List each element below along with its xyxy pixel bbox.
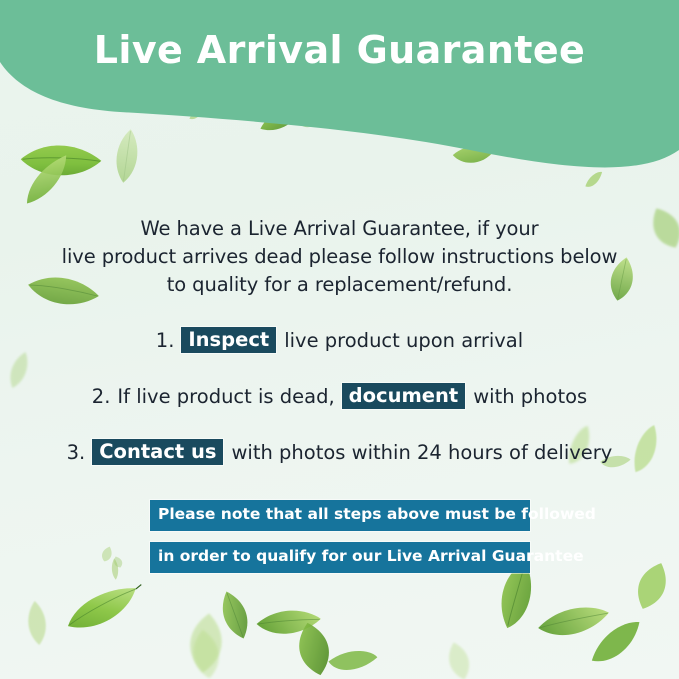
- leaf-icon: [622, 554, 679, 619]
- intro-line-3: to quality for a replacement/refund.: [50, 271, 629, 299]
- step-highlight-document[interactable]: document: [342, 383, 466, 410]
- step-highlight-inspect[interactable]: Inspect: [181, 327, 276, 354]
- leaf-icon: [109, 556, 121, 583]
- leaf-icon: [534, 587, 613, 657]
- step-highlight-contact-us[interactable]: Contact us: [92, 439, 223, 466]
- step-item-3: 3. Contact us with photos within 24 hour…: [20, 432, 659, 472]
- step-text: live product upon arrival: [284, 329, 523, 352]
- leaf-icon: [177, 609, 235, 676]
- steps-list: 1. Inspect live product upon arrival 2. …: [20, 320, 659, 488]
- leaf-icon: [585, 616, 647, 671]
- live-arrival-guarantee-poster: Live Arrival Guarantee We have a Live Ar…: [0, 0, 679, 679]
- step-text: with photos: [473, 385, 587, 408]
- leaf-icon: [22, 599, 53, 647]
- leaf-icon: [183, 625, 230, 679]
- intro-paragraph: We have a Live Arrival Guarantee, if you…: [50, 215, 629, 299]
- footer-notes: Please note that all steps above must be…: [150, 500, 530, 573]
- leaf-icon: [110, 553, 127, 571]
- step-item-1: 1. Inspect live product upon arrival: [20, 320, 659, 360]
- leaf-icon: [61, 581, 149, 639]
- leaf-icon: [210, 584, 260, 646]
- step-text-pre: If live product is dead,: [117, 385, 334, 408]
- step-number: 2.: [92, 385, 111, 408]
- footer-note-line-2: in order to qualify for our Live Arrival…: [150, 542, 530, 573]
- footer-note-line-1: Please note that all steps above must be…: [150, 500, 530, 531]
- step-text: with photos within 24 hours of delivery: [231, 441, 612, 464]
- leaf-icon: [282, 615, 346, 679]
- step-number: 3.: [67, 441, 86, 464]
- leaf-icon: [439, 637, 479, 679]
- leaf-icon: [322, 632, 381, 679]
- intro-line-2: live product arrives dead please follow …: [50, 243, 629, 271]
- leaf-icon: [251, 590, 325, 656]
- intro-line-1: We have a Live Arrival Guarantee, if you…: [50, 215, 629, 243]
- step-number: 1.: [156, 329, 175, 352]
- page-title: Live Arrival Guarantee: [0, 28, 679, 72]
- leaf-icon: [97, 543, 116, 565]
- step-item-2: 2. If live product is dead, document wit…: [20, 376, 659, 416]
- leaf-icon: [638, 199, 679, 258]
